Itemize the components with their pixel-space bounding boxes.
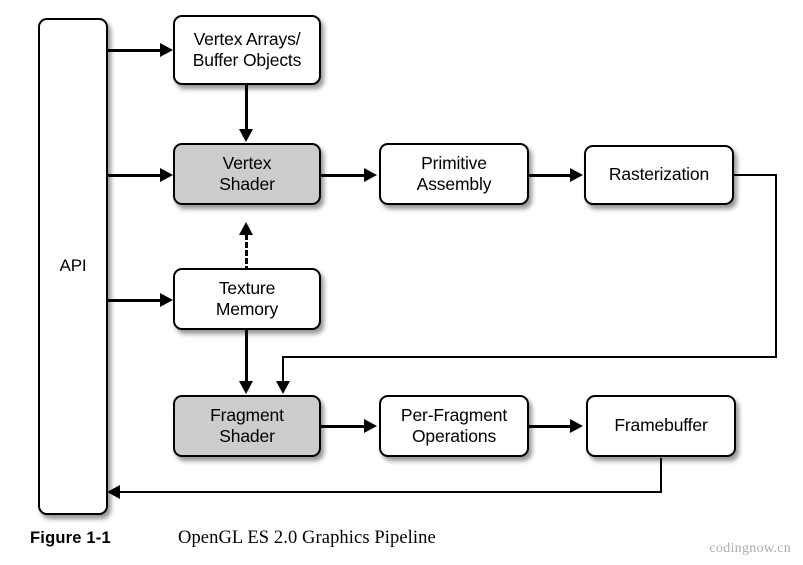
- node-framebuffer-label: Framebuffer: [610, 415, 711, 436]
- edge-per-fragment-ops-to-framebuffer-line: [528, 425, 572, 428]
- figure-caption-number: Figure 1-1: [30, 529, 111, 548]
- edge-rasterization-to-fragment-shader-seg-left: [283, 356, 777, 358]
- edge-api-to-texture-memory-arrowhead: [160, 293, 173, 307]
- node-fragment-shader-label: Fragment Shader: [206, 405, 288, 448]
- edge-vertex-arrays-to-vertex-shader-line: [245, 85, 248, 131]
- figure-caption-title: OpenGL ES 2.0 Graphics Pipeline: [178, 528, 436, 549]
- edge-rasterization-to-fragment-shader-arrowhead: [276, 381, 290, 394]
- node-vertex-shader-label: Vertex Shader: [215, 153, 279, 196]
- node-primitive-assembly[interactable]: Primitive Assembly: [379, 143, 529, 205]
- node-rasterization[interactable]: Rasterization: [584, 145, 734, 205]
- edge-api-to-vertex-arrays-arrowhead: [160, 43, 173, 57]
- node-per-fragment-operations-label: Per-Fragment Operations: [397, 405, 511, 448]
- node-rasterization-label: Rasterization: [605, 164, 713, 185]
- edge-primitive-assembly-to-rasterization-arrowhead: [570, 168, 583, 182]
- edge-rasterization-to-fragment-shader-seg-down: [775, 174, 777, 358]
- edge-api-to-vertex-arrays-line: [108, 49, 162, 52]
- edge-framebuffer-to-api-seg-left: [118, 491, 662, 493]
- node-api[interactable]: API: [38, 18, 108, 515]
- edge-primitive-assembly-to-rasterization-line: [528, 174, 572, 177]
- edge-vertex-shader-to-primitive-assembly-arrowhead: [364, 168, 377, 182]
- edge-texture-memory-to-vertex-shader-dashed-line: [245, 234, 248, 272]
- figure-container: API Vertex Arrays/ Buffer Objects Vertex…: [0, 0, 803, 565]
- node-api-label: API: [56, 256, 91, 277]
- edge-texture-memory-to-vertex-shader-arrowhead: [239, 222, 253, 235]
- node-vertex-arrays-buffer-objects[interactable]: Vertex Arrays/ Buffer Objects: [173, 15, 321, 85]
- node-texture-memory[interactable]: Texture Memory: [173, 268, 321, 330]
- figure-caption: Figure 1-1 OpenGL ES 2.0 Graphics Pipeli…: [0, 529, 803, 565]
- edge-rasterization-to-fragment-shader-seg-down2: [282, 356, 284, 384]
- edge-api-to-texture-memory-line: [108, 299, 162, 302]
- edge-api-to-vertex-shader-line: [108, 174, 162, 177]
- node-per-fragment-operations[interactable]: Per-Fragment Operations: [379, 395, 529, 457]
- node-fragment-shader[interactable]: Fragment Shader: [173, 395, 321, 457]
- edge-texture-memory-to-fragment-shader-arrowhead: [239, 381, 253, 394]
- edge-fragment-shader-to-per-fragment-ops-arrowhead: [364, 419, 377, 433]
- watermark-text: codingnow.cn: [709, 541, 791, 557]
- edge-rasterization-to-fragment-shader-seg-right: [733, 174, 777, 176]
- node-texture-memory-label: Texture Memory: [212, 278, 282, 321]
- node-vertex-shader[interactable]: Vertex Shader: [173, 143, 321, 205]
- edge-framebuffer-to-api-arrowhead: [107, 485, 120, 499]
- edge-vertex-arrays-to-vertex-shader-arrowhead: [239, 129, 253, 142]
- edge-vertex-shader-to-primitive-assembly-line: [320, 174, 366, 177]
- edge-per-fragment-ops-to-framebuffer-arrowhead: [570, 419, 583, 433]
- node-vertex-arrays-buffer-objects-label: Vertex Arrays/ Buffer Objects: [189, 29, 305, 72]
- edge-texture-memory-to-fragment-shader-line: [245, 330, 248, 383]
- node-framebuffer[interactable]: Framebuffer: [586, 395, 736, 457]
- edge-fragment-shader-to-per-fragment-ops-line: [320, 425, 366, 428]
- node-primitive-assembly-label: Primitive Assembly: [413, 153, 496, 196]
- edge-api-to-vertex-shader-arrowhead: [160, 168, 173, 182]
- edge-framebuffer-to-api-seg-down: [660, 458, 662, 492]
